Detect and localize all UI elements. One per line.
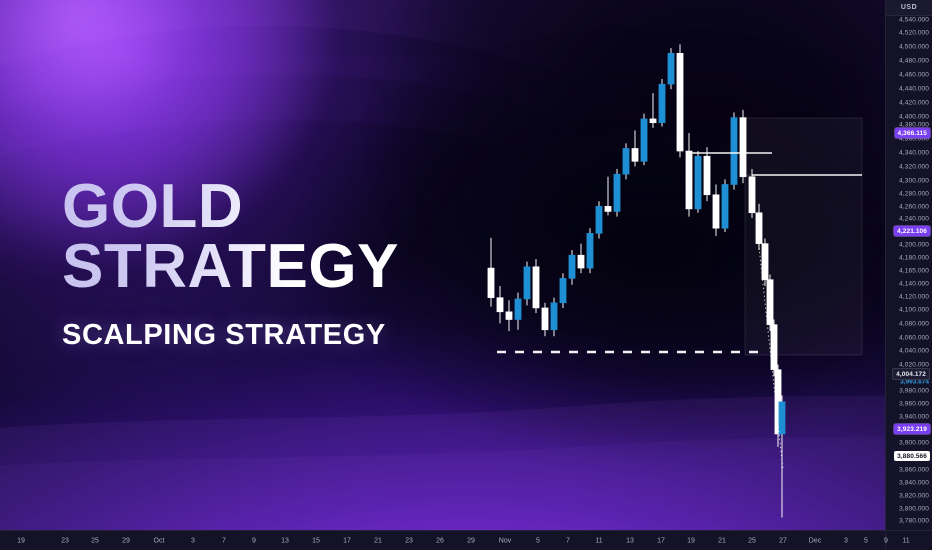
candle[interactable] [614, 169, 620, 217]
price-tick: 4,280.000 [899, 191, 929, 198]
time-tick: 26 [436, 537, 444, 544]
supply-zone-box[interactable] [745, 118, 862, 175]
time-tick: 19 [17, 537, 25, 544]
price-level-badge[interactable]: 4,221.106 [894, 226, 930, 236]
time-tick: 3 [844, 537, 848, 544]
candle[interactable] [704, 147, 710, 201]
price-tick: 4,500.000 [899, 44, 929, 51]
time-tick: 13 [281, 537, 289, 544]
price-tick: 3,820.000 [899, 493, 929, 500]
time-tick: 21 [718, 537, 726, 544]
price-tick: 4,400.000 [899, 114, 929, 121]
time-tick: Nov [499, 537, 511, 544]
time-tick: 25 [748, 537, 756, 544]
price-tick: 4,520.000 [899, 30, 929, 37]
price-tick: 4,540.000 [899, 17, 929, 24]
price-tick: 3,940.000 [899, 414, 929, 421]
candle[interactable] [762, 238, 768, 286]
price-tick: 4,165.000 [899, 268, 929, 275]
time-tick: 27 [779, 537, 787, 544]
axis-corner-cell [885, 531, 932, 550]
price-tick: 4,080.000 [899, 321, 929, 328]
headline-line-2: STRATEGY [62, 238, 399, 296]
headline-line-1: GOLD [62, 178, 399, 236]
price-level-badge[interactable]: 4,004.172 [892, 368, 930, 380]
price-tick: 3,980.000 [899, 388, 929, 395]
price-tick: 3,800.000 [899, 506, 929, 513]
time-tick: 7 [566, 537, 570, 544]
time-tick: Oct [154, 537, 165, 544]
candle[interactable] [605, 177, 611, 216]
time-tick: 19 [687, 537, 695, 544]
price-tick: 4,240.000 [899, 216, 929, 223]
candle[interactable] [506, 300, 512, 331]
price-tick: 3,900.000 [899, 440, 929, 447]
time-axis[interactable]: 19232529Oct37913151721232629Nov571113171… [0, 530, 932, 550]
time-tick: 5 [536, 537, 540, 544]
time-tick: 23 [61, 537, 69, 544]
candle[interactable] [686, 133, 692, 217]
candle[interactable] [731, 112, 737, 189]
price-tick: 4,200.000 [899, 242, 929, 249]
time-tick: 29 [467, 537, 475, 544]
price-tick: 4,340.000 [899, 150, 929, 157]
candle[interactable] [650, 93, 656, 128]
price-level-badge[interactable]: 4,366.115 [895, 128, 930, 138]
price-tick: 4,320.000 [899, 164, 929, 171]
time-tick: 29 [122, 537, 130, 544]
price-scale[interactable]: USD 4,540.0004,520.0004,500.0004,480.000… [885, 0, 932, 530]
candle[interactable] [659, 79, 665, 127]
candle[interactable] [578, 244, 584, 274]
price-tick: 3,960.000 [899, 401, 929, 408]
candle[interactable] [488, 238, 494, 307]
candle[interactable] [668, 48, 674, 89]
price-tick: 4,140.000 [899, 281, 929, 288]
candle[interactable] [524, 262, 530, 306]
candle[interactable] [779, 395, 785, 517]
headline-block: GOLD STRATEGY SCALPING STRATEGY [62, 178, 399, 352]
time-tick: 11 [595, 537, 602, 544]
price-tick: 4,040.000 [899, 348, 929, 355]
candle[interactable] [695, 151, 701, 213]
time-tick: 3 [191, 537, 195, 544]
candle[interactable] [740, 110, 746, 183]
candle[interactable] [767, 275, 773, 332]
time-tick: 17 [343, 537, 351, 544]
price-tick: 4,120.000 [899, 294, 929, 301]
candle[interactable] [542, 303, 548, 336]
price-tick: 4,440.000 [899, 86, 929, 93]
time-tick: 21 [374, 537, 382, 544]
candle[interactable] [587, 228, 593, 273]
price-tick: 4,180.000 [899, 255, 929, 262]
time-tick: 7 [222, 537, 226, 544]
time-tick: 13 [626, 537, 634, 544]
time-tick: 23 [405, 537, 413, 544]
candle[interactable] [677, 44, 683, 157]
candle[interactable] [515, 293, 521, 330]
price-tick: 4,100.000 [899, 307, 929, 314]
price-tick: 3,780.000 [899, 518, 929, 525]
candle[interactable] [569, 250, 575, 285]
candle[interactable] [641, 114, 647, 165]
candle[interactable] [533, 259, 539, 313]
price-level-badge[interactable]: 3,923.219 [894, 424, 930, 434]
promo-chart-banner: GOLD STRATEGY SCALPING STRATEGY USD 4,54… [0, 0, 932, 550]
time-tick: 5 [864, 537, 868, 544]
price-tick: 4,300.000 [899, 178, 929, 185]
candle[interactable] [596, 201, 602, 238]
price-tick: 3,840.000 [899, 480, 929, 487]
price-tick: 4,420.000 [899, 100, 929, 107]
time-tick: 25 [91, 537, 99, 544]
price-tick: 4,060.000 [899, 335, 929, 342]
candle[interactable] [551, 298, 557, 337]
price-tick: 3,860.000 [899, 467, 929, 474]
candle[interactable] [713, 184, 719, 235]
candle[interactable] [722, 179, 728, 232]
time-tick: 15 [312, 537, 320, 544]
headline-subtitle: SCALPING STRATEGY [62, 319, 399, 352]
candle[interactable] [560, 273, 566, 308]
candle[interactable] [623, 143, 629, 179]
time-tick: 17 [657, 537, 665, 544]
candle[interactable] [497, 286, 503, 323]
price-tick: 4,460.000 [899, 72, 929, 79]
time-tick: 9 [252, 537, 256, 544]
price-tick: 4,260.000 [899, 204, 929, 211]
candle[interactable] [632, 130, 638, 166]
price-scale-currency-label: USD [886, 0, 932, 16]
price-tick: 4,480.000 [899, 58, 929, 65]
time-tick: Dec [809, 537, 821, 544]
price-level-badge[interactable]: 3,880.566 [894, 451, 930, 461]
